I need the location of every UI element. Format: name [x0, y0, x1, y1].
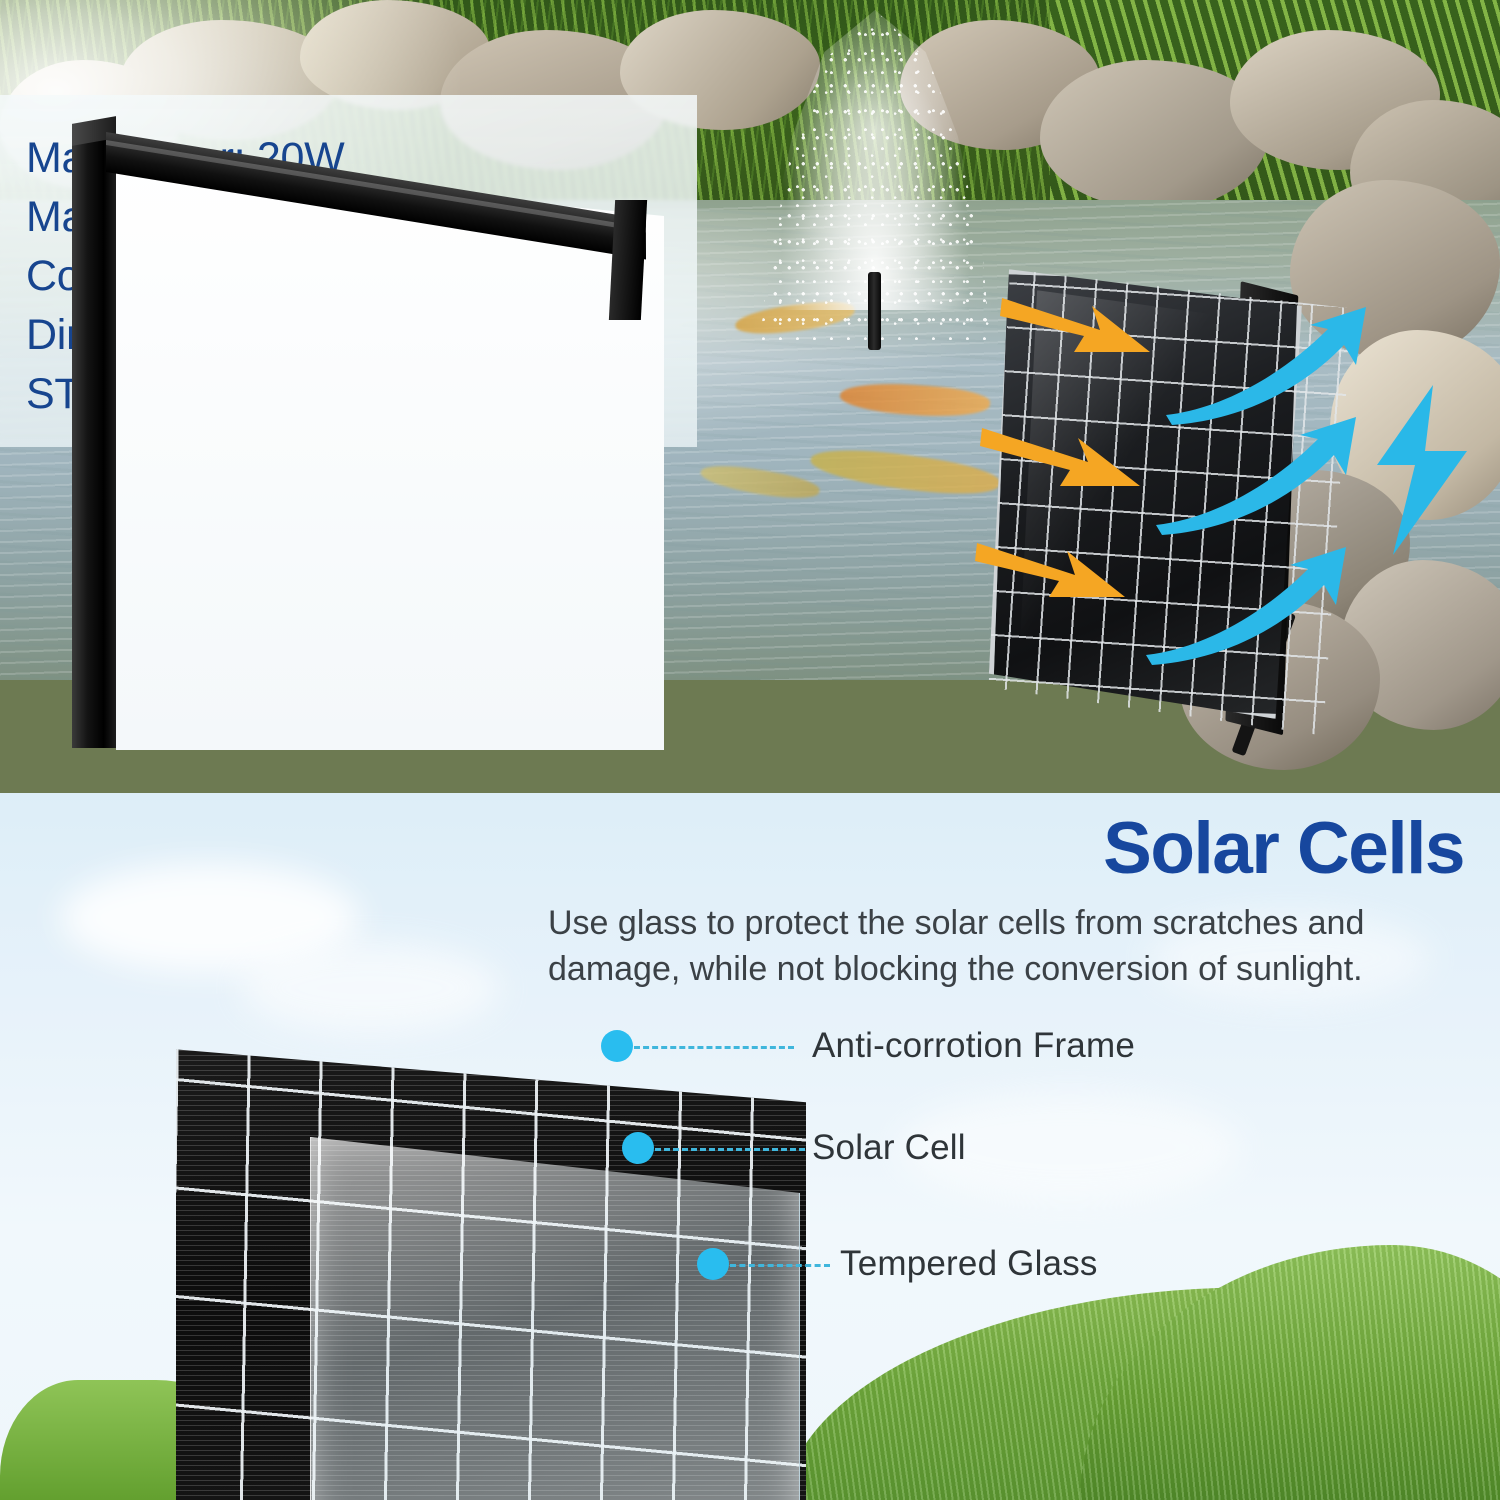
- cloud: [240, 943, 500, 1033]
- tempered-glass-pane: [310, 1137, 800, 1500]
- callout-leader-line: [634, 1046, 794, 1049]
- product-infographic: Max power: 20W Max power Voltage: 18V Co…: [0, 0, 1500, 1500]
- callout-leader-line: [655, 1148, 805, 1151]
- energy-output-arrow-icon: [1160, 305, 1380, 425]
- callout-label: Solar Cell: [812, 1128, 966, 1168]
- energy-output-arrow-icon: [1140, 545, 1360, 665]
- fountain-nozzle: [868, 272, 881, 350]
- frame-left-rail: [72, 128, 116, 748]
- callout-label: Tempered Glass: [840, 1244, 1098, 1284]
- section-title: Solar Cells: [1103, 812, 1464, 885]
- sunlight-arrow-icon: [975, 535, 1135, 615]
- callout-dot: [601, 1030, 633, 1062]
- section-subtitle: Use glass to protect the solar cells fro…: [548, 900, 1468, 992]
- sunlight-arrow-icon: [1000, 290, 1160, 370]
- callout-dot: [622, 1132, 654, 1164]
- callout-leader-line: [730, 1264, 830, 1267]
- callout-dot: [697, 1248, 729, 1280]
- sunlight-arrow-icon: [980, 420, 1150, 500]
- lightning-bolt-icon: [1355, 385, 1485, 555]
- water-fountain: [760, 10, 990, 340]
- callout-label: Anti-corrotion Frame: [812, 1026, 1135, 1066]
- grass-hill-near: [1080, 1245, 1500, 1500]
- frame-right-corner: [609, 200, 647, 320]
- energy-output-arrow-icon: [1150, 415, 1370, 535]
